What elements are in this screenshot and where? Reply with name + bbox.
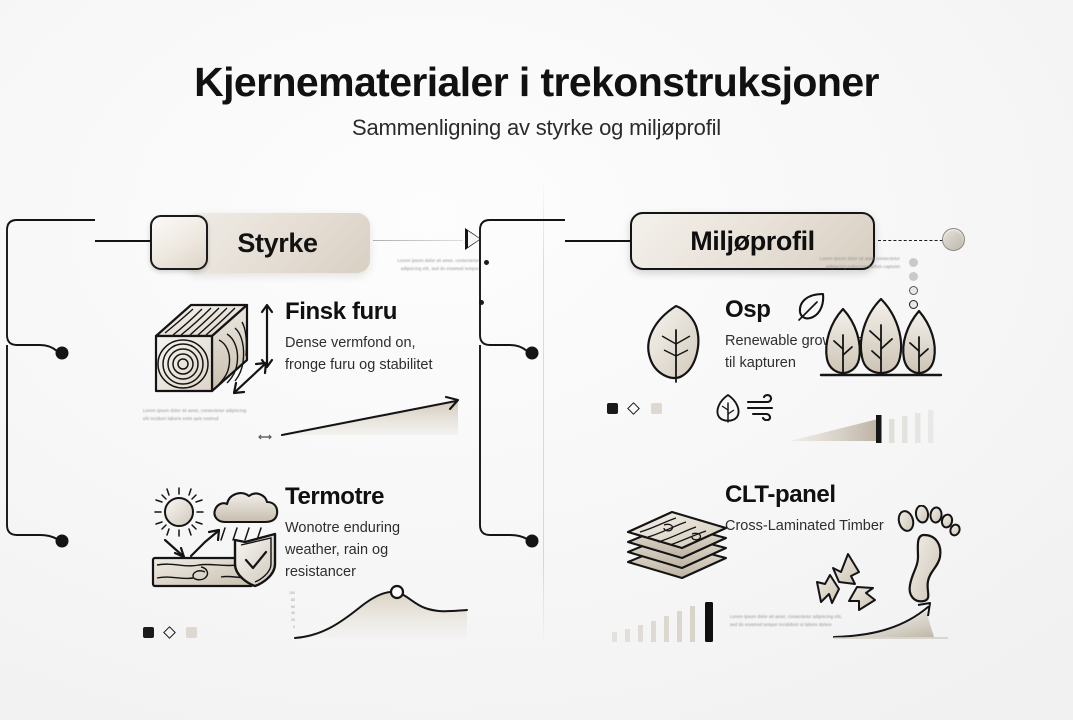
marker-pale-square bbox=[186, 627, 197, 638]
wood-beam-icon bbox=[143, 292, 283, 397]
chart-osp-wedge bbox=[790, 401, 950, 447]
chart-osp-bar-active bbox=[876, 415, 882, 443]
entry-body-termotre: Wonotre enduring weather, rain og resist… bbox=[285, 517, 435, 583]
marker-filled-square-right bbox=[607, 403, 618, 414]
chart-finsk-furu-trend bbox=[280, 388, 475, 443]
weather-shield-icon bbox=[143, 480, 288, 590]
entry-finsk-furu[interactable]: Finsk furu Dense vermfond on, fronge fur… bbox=[285, 298, 435, 376]
column-styrke: Styrke Lorem ipsum dolor sit amet, conse… bbox=[95, 175, 525, 675]
spine-node-2 bbox=[56, 535, 69, 548]
leaf-small-icon bbox=[713, 391, 743, 423]
entry-body-clt-panel: Cross-Laminated Timber bbox=[725, 515, 895, 537]
column-miljoprofil: Miljøprofil Lorem ipsum dolor sit amet c… bbox=[565, 175, 995, 675]
chart-growth-curve bbox=[830, 595, 965, 650]
badge-accent-box bbox=[150, 215, 208, 270]
page-title: Kjernematerialer i trekonstruksjoner bbox=[0, 59, 1073, 106]
lorem-blurb-right-bottom: Lorem ipsum dolor sit amet, consectetur … bbox=[730, 613, 845, 629]
entry-title-clt-panel: CLT-panel bbox=[725, 481, 895, 509]
wind-icon bbox=[745, 393, 779, 421]
leaf-icon bbox=[640, 300, 712, 390]
column-divider bbox=[543, 178, 544, 648]
bullet-dot-a bbox=[484, 260, 489, 265]
spine-node-1 bbox=[56, 347, 69, 360]
clt-stack-icon bbox=[620, 500, 735, 590]
footprint-icon bbox=[890, 505, 962, 605]
page-subtitle: Sammenligning av styrke og miljøprofil bbox=[0, 115, 1073, 141]
entry-title-finsk-furu: Finsk furu bbox=[285, 298, 435, 326]
chart-clt-bars bbox=[610, 600, 735, 645]
marker-pale-square-right bbox=[651, 403, 662, 414]
infographic-canvas: Kjernematerialer i trekonstruksjoner Sam… bbox=[0, 0, 1073, 720]
lorem-blurb-left-top: Lorem ipsum dolor sit amet, consectetur … bbox=[383, 257, 479, 273]
entry-title-termotre: Termotre bbox=[285, 483, 435, 511]
badge-styrke[interactable]: Styrke bbox=[185, 213, 370, 273]
chart-clt-bar-highlight bbox=[705, 602, 713, 642]
entry-clt-panel[interactable]: CLT-panel Cross-Laminated Timber bbox=[725, 481, 895, 537]
forest-trees-icon bbox=[815, 293, 945, 393]
entry-body-finsk-furu: Dense vermfond on, fronge furu og stabil… bbox=[285, 332, 435, 376]
spine-node-r1 bbox=[526, 347, 539, 360]
marker-filled-square bbox=[143, 627, 154, 638]
entry-termotre[interactable]: Termotre Wonotre enduring weather, rain … bbox=[285, 483, 435, 583]
lorem-blurb-left-mid: Lorem ipsum dolor sit amet, consectetur … bbox=[143, 407, 248, 423]
divider-tick-icon bbox=[258, 427, 270, 431]
spine-node-r2 bbox=[526, 535, 539, 548]
peak-marker bbox=[391, 586, 403, 598]
chart-termotre-curve bbox=[291, 580, 481, 645]
badge-styrke-label: Styrke bbox=[237, 228, 317, 259]
